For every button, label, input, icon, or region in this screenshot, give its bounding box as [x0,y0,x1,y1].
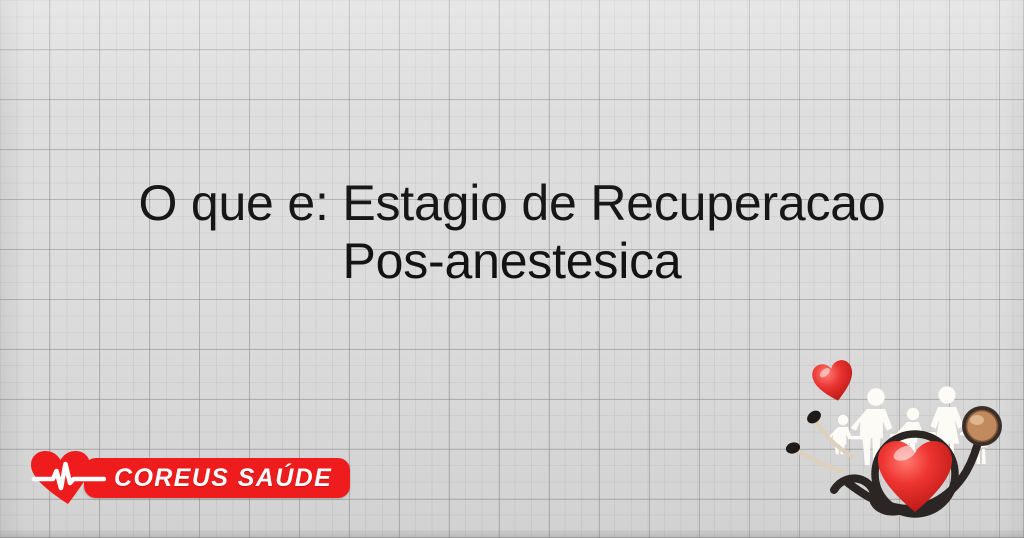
small-heart-icon [782,352,1024,538]
page-title: O que e: Estagio de Recuperacao Pos-anes… [0,174,1024,290]
brand-logo[interactable]: COREUS SAÚDE [30,450,350,506]
medical-collage [782,352,1024,538]
slide-canvas: O que e: Estagio de Recuperacao Pos-anes… [0,0,1024,538]
brand-name-label: COREUS SAÚDE [114,464,332,493]
brand-name-badge: COREUS SAÚDE [84,458,350,498]
heart-ecg-icon [30,450,106,506]
